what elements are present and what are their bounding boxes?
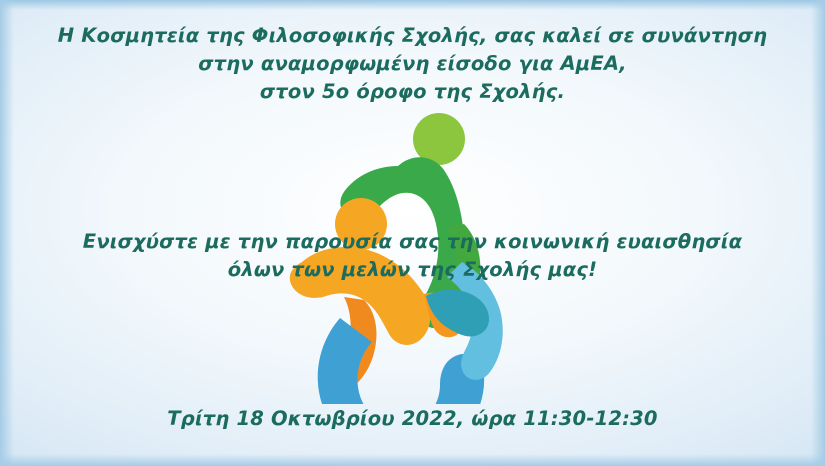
orange-figure-leg — [329, 297, 376, 390]
middle-text-line-2: όλων των μελών της Σχολής μας! — [0, 256, 825, 284]
poster-canvas: Η Κοσμητεία της Φιλοσοφικής Σχολής, σας … — [0, 0, 825, 466]
blue-wheel-arc — [317, 318, 483, 404]
middle-text: Ενισχύστε με την παρουσία σας την κοινων… — [0, 228, 825, 284]
teal-accent — [426, 290, 489, 337]
headline-text: Η Κοσμητεία της Φιλοσοφικής Σχολής, σας … — [0, 22, 825, 106]
headline-line-2: στην αναμορφωμένη είσοδο για ΑμΕΑ, — [0, 50, 825, 78]
blue-spacer — [334, 320, 578, 404]
background-gradient-top — [0, 0, 825, 10]
headline-line-1: Η Κοσμητεία της Φιλοσοφικής Σχολής, σας … — [0, 22, 825, 50]
background-gradient-bottom — [0, 454, 825, 466]
headline-line-3: στον 5ο όροφο της Σχολής. — [0, 78, 825, 106]
orange-figure-arm — [424, 292, 465, 337]
date-text: Τρίτη 18 Οκτωβρίου 2022, ώρα 11:30-12:30 — [0, 406, 825, 432]
middle-text-line-1: Ενισχύστε με την παρουσία σας την κοινων… — [0, 228, 825, 256]
green-figure-head — [413, 113, 465, 165]
